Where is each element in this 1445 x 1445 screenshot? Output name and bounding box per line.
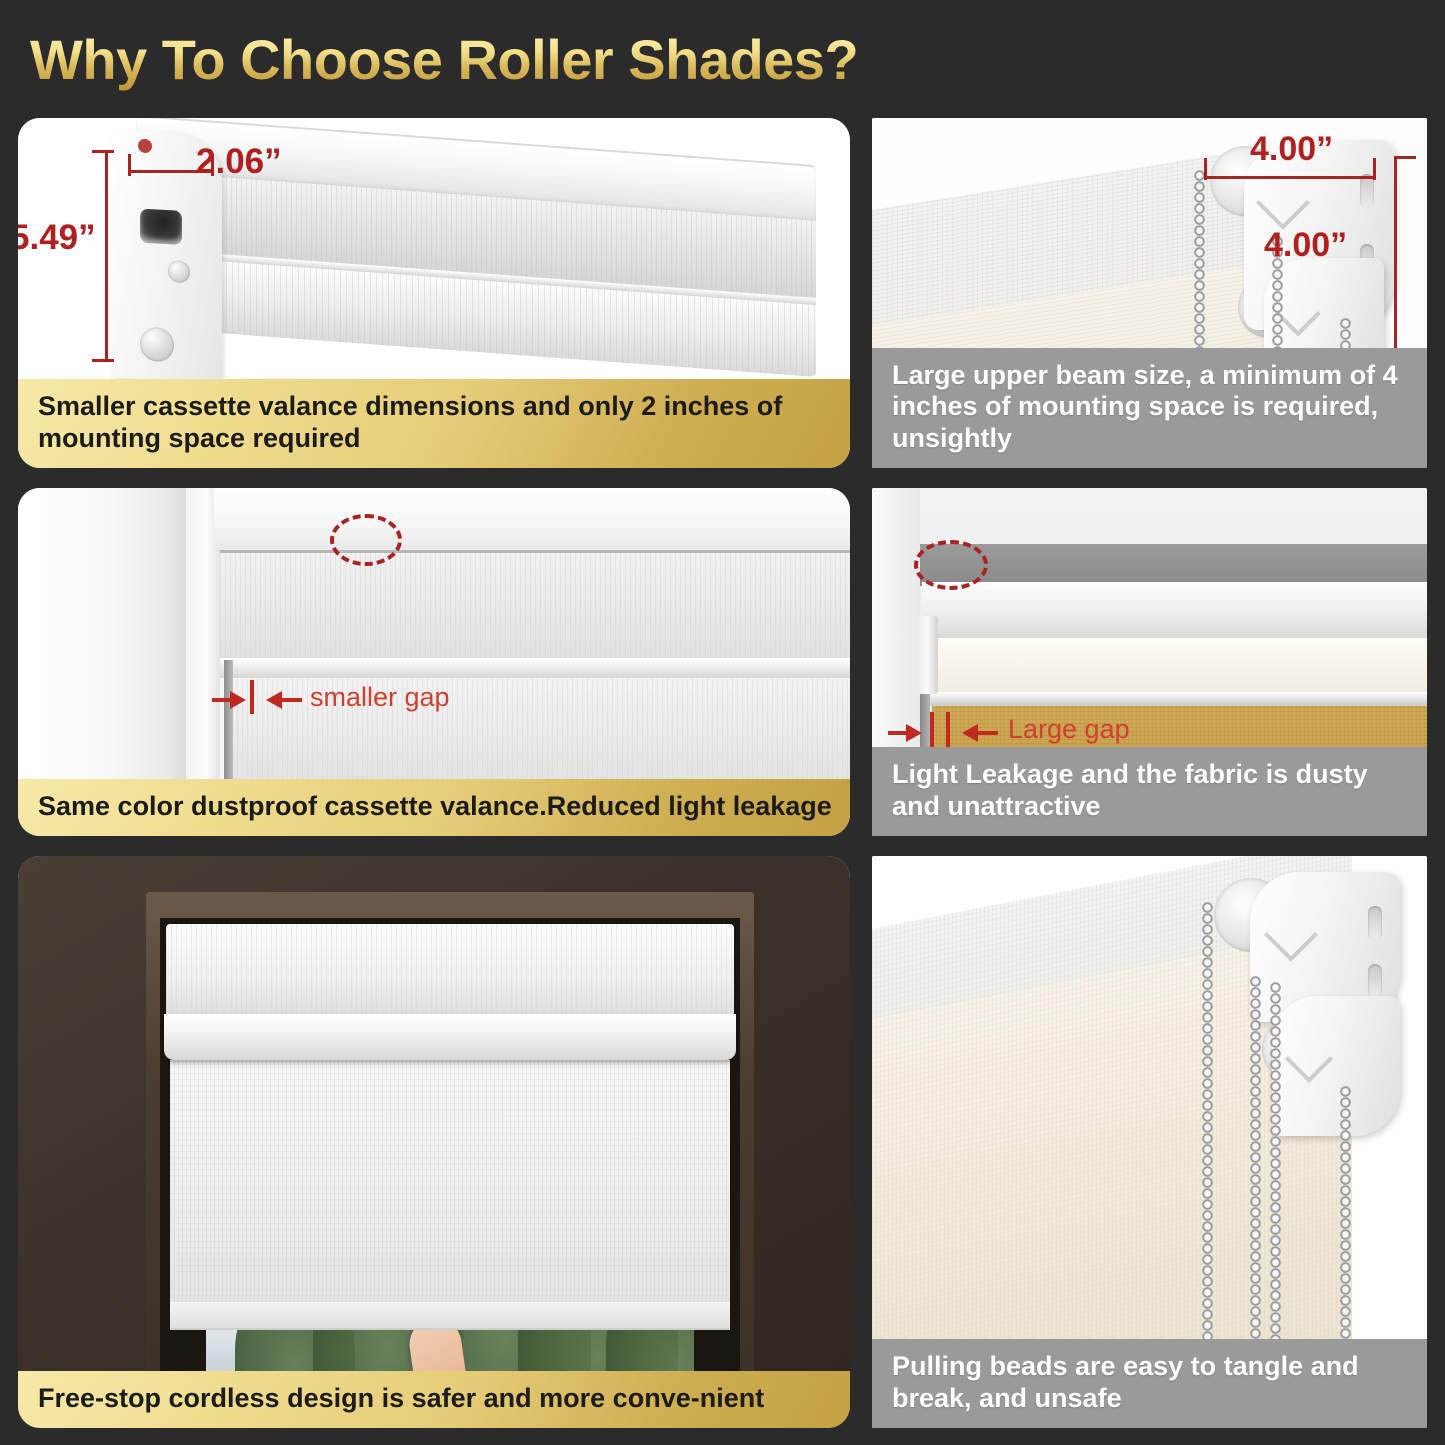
bead-chain [1202,902,1213,1392]
mounting-bracket-lower [1272,996,1400,1136]
gap-label: Large gap [1008,714,1130,745]
window-frame [146,892,754,1428]
panel-dustproof-valance: smaller gap Same color dustproof cassett… [18,488,850,836]
panel-3-caption: Same color dustproof cassette valance.Re… [18,779,850,836]
panel-2-caption: Large upper beam size, a minimum of 4 in… [872,348,1427,468]
panel-pulling-beads: Pulling beads are easy to tangle and bre… [872,856,1427,1428]
panel-cassette-dimensions: 5.49” 2.06” Smaller cassette valance dim… [18,118,850,468]
panel-4-caption: Light Leakage and the fabric is dusty an… [872,747,1427,836]
gap-arrow-right [230,691,246,709]
bracket-hole-icon [140,209,182,245]
dimension-label-width: 4.00” [1250,130,1333,169]
dimension-label-height: 5.49” [18,218,96,258]
shade-clip [916,616,938,694]
comparison-grid: 5.49” 2.06” Smaller cassette valance dim… [0,0,1445,1445]
panel-1-caption: Smaller cassette valance dimensions and … [18,379,850,468]
cassette-valance [166,924,734,1016]
panel-5-photo [18,856,850,1428]
screw-icon [140,327,174,363]
screw-icon [168,260,190,283]
dimension-label-height: 4.00” [1264,226,1347,265]
panel-6-caption: Pulling beads are easy to tangle and bre… [872,1339,1427,1428]
panel-cordless-design: Free-stop cordless design is safer and m… [18,856,850,1428]
bead-chain [1270,982,1281,1392]
shade-bottom-rail [170,1302,730,1330]
panel-light-leakage: Large gap Light Leakage and the fabric i… [872,488,1427,836]
shade-fabric [170,1060,730,1302]
highlight-circle-icon [914,540,988,590]
highlight-circle-icon [330,514,402,566]
gap-arrow-right [906,724,922,742]
dimension-label-width: 2.06” [196,142,282,182]
gap-arrow-left [962,724,978,742]
gap-label: smaller gap [310,682,450,713]
gap-arrow-left [266,691,282,709]
bead-chain [1250,976,1261,1392]
panel-5-caption: Free-stop cordless design is safer and m… [18,1371,850,1428]
panel-large-beam: 4.00” 4.00” Large upper beam size, a min… [872,118,1427,468]
